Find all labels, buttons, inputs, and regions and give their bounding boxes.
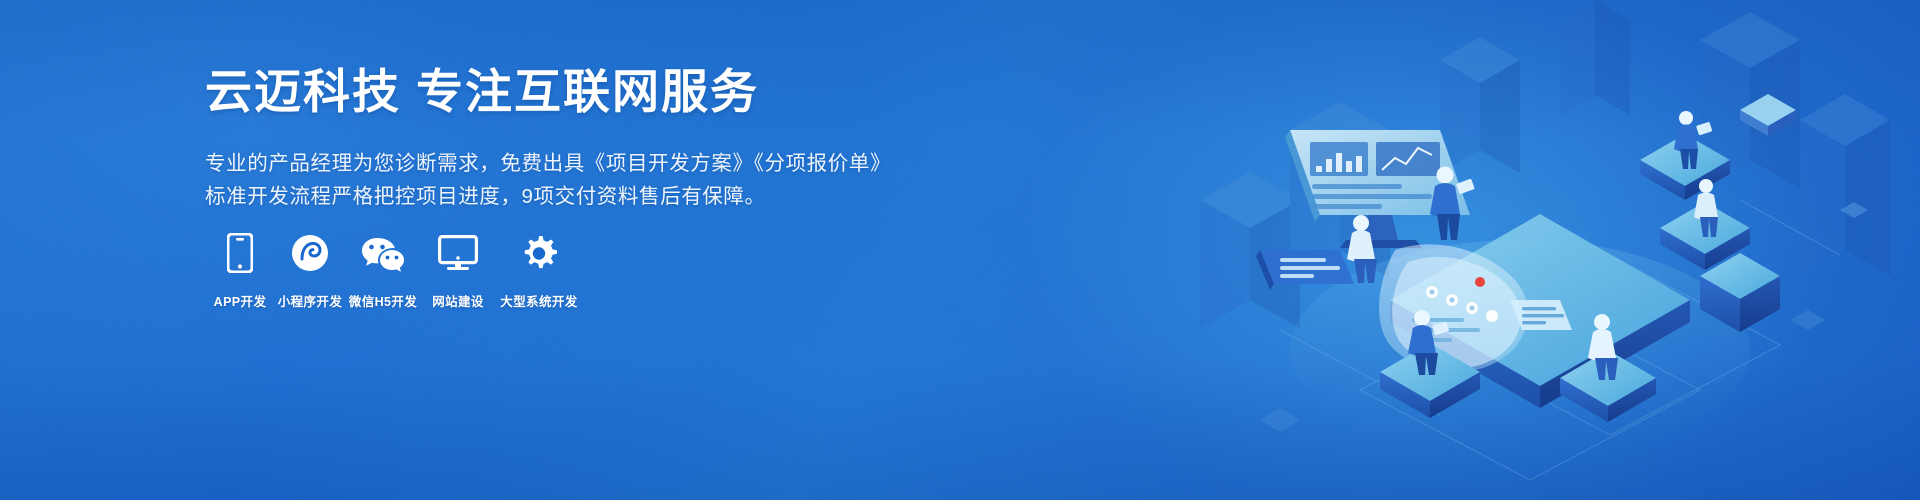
page-title: 云迈科技 专注互联网服务 (205, 66, 905, 119)
service-item-large-system[interactable]: 大型系统开发 (495, 232, 583, 310)
mini-program-icon (291, 232, 329, 274)
platform-right-bottom (1660, 179, 1750, 270)
hero-banner: 云迈科技 专注互联网服务 专业的产品经理为您诊断需求，免费出具《项目开发方案》《… (0, 0, 1920, 500)
service-label: APP开发 (214, 291, 267, 310)
service-label: 小程序开发 (278, 291, 343, 310)
data-flow-sheet (1379, 244, 1528, 372)
service-item-wechat-h5[interactable]: 微信H5开发 (345, 232, 421, 310)
mobile-phone-icon (227, 232, 253, 274)
background-blocks (1200, 0, 1890, 328)
wechat-icon (361, 232, 405, 274)
service-item-website[interactable]: 网站建设 (421, 232, 495, 310)
dashboard-screen (1285, 130, 1470, 248)
gear-icon (520, 232, 558, 274)
cube-stack-right (1700, 253, 1780, 332)
service-item-app[interactable]: APP开发 (205, 232, 275, 310)
person-center (1430, 167, 1475, 241)
floating-card-right (1740, 94, 1796, 136)
service-list: APP开发 小程序开发 微信 (205, 232, 583, 310)
subtitle-line-2: 标准开发流程严格把控项目进度，9项交付资料售后有保障。 (205, 180, 905, 213)
service-item-mini-program[interactable]: 小程序开发 (275, 232, 345, 310)
ground-grid (1280, 200, 1840, 480)
service-label: 微信H5开发 (349, 291, 417, 310)
platform-bottom-left (1380, 310, 1480, 418)
banner-subtitle: 专业的产品经理为您诊断需求，免费出具《项目开发方案》《分项报价单》 标准开发流程… (205, 147, 905, 213)
banner-text-block: 云迈科技 专注互联网服务 专业的产品经理为您诊断需求，免费出具《项目开发方案》《… (205, 66, 905, 213)
person-left-desk (1256, 215, 1377, 290)
window-panel (1510, 300, 1572, 330)
service-label: 网站建设 (432, 291, 484, 310)
diamond-accents (1260, 202, 1868, 432)
main-platform (1390, 214, 1690, 408)
service-label: 大型系统开发 (500, 291, 577, 310)
monitor-icon (438, 232, 478, 274)
platform-right-top (1640, 111, 1730, 200)
subtitle-line-1: 专业的产品经理为您诊断需求，免费出具《项目开发方案》《分项报价单》 (205, 147, 905, 180)
platform-bottom-right (1560, 314, 1656, 422)
isometric-illustration (1140, 0, 1920, 500)
